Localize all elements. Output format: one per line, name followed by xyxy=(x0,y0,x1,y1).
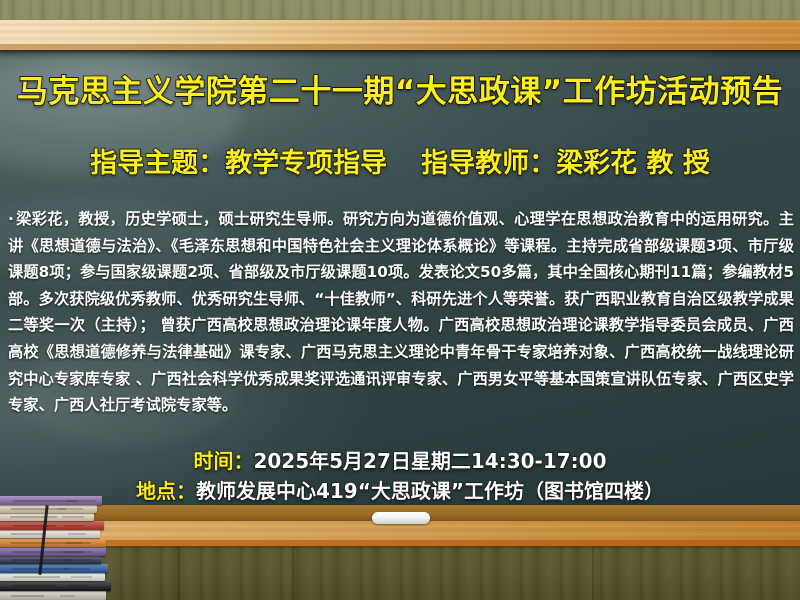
time-value: 2025年5月27日星期二14:30-17:00 xyxy=(253,449,606,473)
poster-canvas: 马克思主义学院第二十一期“大思政课”工作坊活动预告 指导主题：教学专项指导指导教… xyxy=(0,0,800,600)
book-spine-text xyxy=(64,568,90,570)
book-spine-text xyxy=(10,516,57,518)
page-title: 马克思主义学院第二十一期“大思政课”工作坊活动预告 xyxy=(0,72,800,112)
book-stack xyxy=(0,497,116,600)
book-spine xyxy=(0,573,105,581)
book-spine-text xyxy=(13,585,55,587)
book-spine-text xyxy=(57,508,83,510)
speaker-bio-text: 梁彩花，教授，历史学硕士，硕士研究生导师。研究方向为道德价值观、心理学在思想政治… xyxy=(8,210,794,414)
event-time-line: 时间：2025年5月27日星期二14:30-17:00 xyxy=(0,446,800,476)
book-spine-text xyxy=(13,576,60,578)
bullet-icon: · xyxy=(8,210,14,228)
book-spine xyxy=(0,547,106,556)
event-place-line: 地点：教师发展中心419“大思政课”工作坊（图书馆四楼） xyxy=(0,476,800,506)
subtitle-row: 指导主题：教学专项指导指导教师：梁彩花 教 授 xyxy=(0,146,800,182)
book-spine xyxy=(0,521,104,530)
rail-lip xyxy=(0,44,800,50)
book-spine-text xyxy=(11,533,46,535)
board-ledge-front-edge xyxy=(0,540,800,546)
board-frame-top-rail xyxy=(0,20,800,50)
book-spine-text xyxy=(66,500,96,502)
place-label: 地点： xyxy=(136,479,196,503)
book-spine-text xyxy=(69,585,88,587)
book-spine xyxy=(0,556,101,564)
time-label: 时间： xyxy=(193,449,253,473)
book-spine xyxy=(0,496,102,505)
book-spine xyxy=(0,530,100,538)
book-spine-text xyxy=(60,595,75,597)
event-meta: 时间：2025年5月27日星期二14:30-17:00 地点：教师发展中心419… xyxy=(0,446,800,506)
book-spine-text xyxy=(68,533,86,535)
topic-label: 指导主题： xyxy=(90,148,225,179)
book-spine xyxy=(0,538,106,547)
book-spine-text xyxy=(13,525,56,527)
book-spine-text xyxy=(66,559,93,561)
book-spine-text xyxy=(71,576,92,578)
teacher-label: 指导教师： xyxy=(421,148,556,179)
place-value: 教师发展中心419“大思政课”工作坊（图书馆四楼） xyxy=(196,479,664,503)
book-spine-text xyxy=(11,595,44,597)
chalk-stick-icon xyxy=(372,512,430,524)
teacher-value: 梁彩花 教 授 xyxy=(556,148,710,179)
book-spine-text xyxy=(62,516,85,518)
book-spine-text xyxy=(66,542,81,544)
book-spine xyxy=(0,591,106,600)
topic-value: 教学专项指导 xyxy=(225,148,387,179)
book-spine xyxy=(0,564,108,573)
book-spine-text xyxy=(64,525,85,527)
speaker-bio: ·梁彩花，教授，历史学硕士，硕士研究生导师。研究方向为道德价值观、心理学在思想政… xyxy=(8,206,794,419)
book-spine xyxy=(0,581,111,591)
book-spine-text xyxy=(62,551,93,553)
